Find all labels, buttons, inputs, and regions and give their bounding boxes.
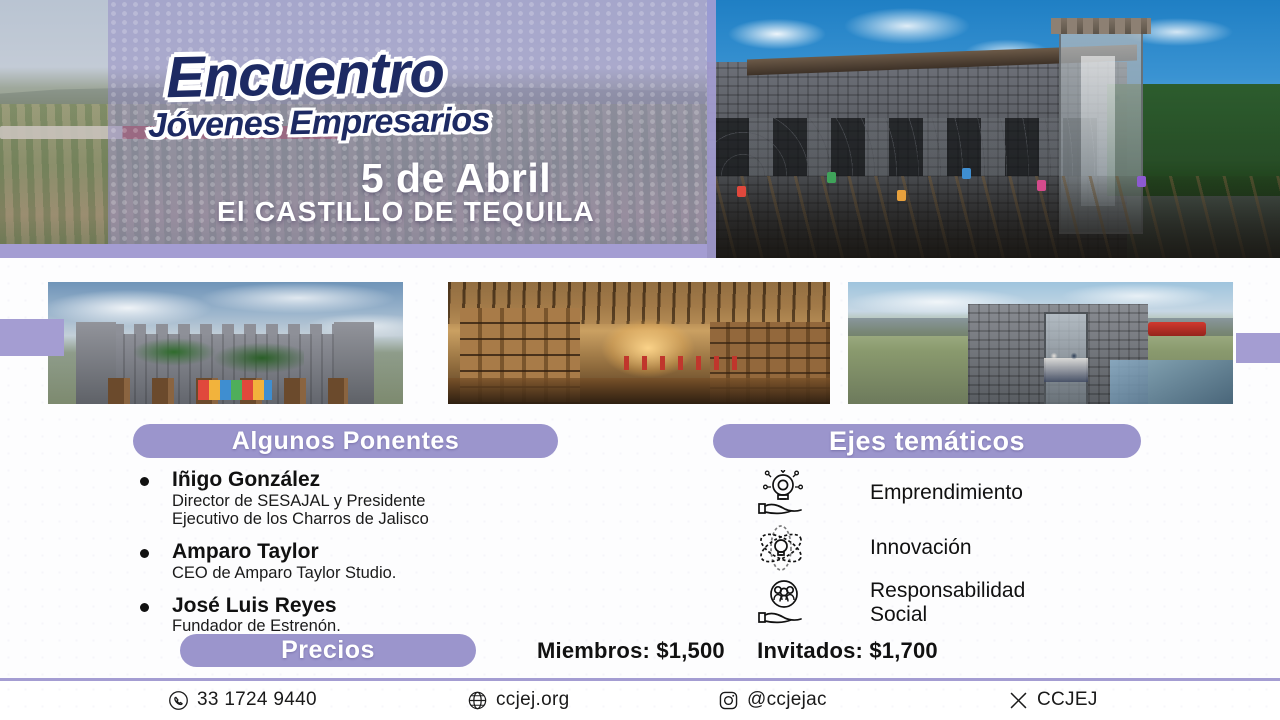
theme-label-line2: Social — [870, 603, 927, 626]
photo-red-vehicle — [1148, 322, 1206, 336]
hero-text-block: Encuentro Jóvenes Empresarios 5 de Abril… — [108, 0, 707, 244]
contact-text: 33 1724 9440 — [197, 689, 317, 711]
themes-list: Emprendimiento Innovación — [745, 468, 1165, 633]
contact-x[interactable]: CCJEJ — [1008, 689, 1098, 711]
price-guests: Invitados: $1,700 — [757, 638, 938, 663]
contact-text: CCJEJ — [1037, 689, 1098, 711]
hero-lanterns — [707, 150, 1280, 230]
speaker-name: Amparo Taylor — [172, 540, 596, 564]
atom-lightbulb-icon — [745, 523, 817, 573]
globe-icon — [467, 690, 488, 711]
theme-item: Innovación — [745, 523, 1165, 573]
theme-label: Responsabilidad Social — [870, 579, 1025, 627]
speaker-name: Iñigo González — [172, 468, 596, 492]
event-title-sub: Jóvenes Empresarios — [148, 99, 689, 142]
photo-glass-walkway — [1110, 360, 1233, 404]
photo-vines — [134, 334, 304, 382]
hand-holding-people-icon — [745, 578, 817, 628]
gallery-photo-barrel-cellar — [448, 282, 830, 404]
speaker-item: Amparo Taylor CEO de Amparo Taylor Studi… — [126, 540, 596, 582]
instagram-icon — [718, 690, 739, 711]
speakers-heading-pill: Algunos Ponentes — [133, 424, 558, 458]
hero-divider-strip — [707, 0, 716, 258]
price-members: Miembros: $1,500 — [537, 638, 725, 663]
photo-visitors — [1044, 348, 1088, 382]
hero-right-photo — [707, 0, 1280, 258]
prices-values: Miembros: $1,500 Invitados: $1,700 — [537, 638, 964, 664]
speaker-item: Iñigo González Director de SESAJAL y Pre… — [126, 468, 596, 529]
speaker-role-line1: CEO de Amparo Taylor Studio. — [172, 564, 596, 583]
contact-text: @ccjejac — [747, 689, 827, 711]
bullet-icon — [140, 603, 149, 612]
contact-text: ccjej.org — [496, 689, 569, 711]
gallery-photo-castle-exterior — [48, 282, 403, 404]
hand-holding-lightbulb-gear-icon — [745, 468, 817, 518]
event-date: 5 de Abril — [236, 155, 676, 202]
x-twitter-icon — [1008, 690, 1029, 711]
contact-instagram[interactable]: @ccjejac — [718, 689, 827, 711]
photo-table-flowers — [624, 356, 744, 370]
hero-banner: Encuentro Jóvenes Empresarios 5 de Abril… — [0, 0, 1280, 258]
speaker-item: José Luis Reyes Fundador de Estrenón. — [126, 594, 596, 636]
theme-item: Emprendimiento — [745, 468, 1165, 518]
bullet-icon — [140, 477, 149, 486]
speakers-list: Iñigo González Director de SESAJAL y Pre… — [126, 468, 596, 647]
photo-cellar-floor — [448, 378, 830, 404]
event-poster: Encuentro Jóvenes Empresarios 5 de Abril… — [0, 0, 1280, 720]
photo-colored-letters — [198, 380, 272, 400]
theme-label-line1: Responsabilidad — [870, 579, 1025, 602]
theme-item: Responsabilidad Social — [745, 578, 1165, 628]
event-title-main: Encuentro — [165, 39, 666, 107]
event-venue: El CASTILLO DE TEQUILA — [126, 196, 686, 228]
bullet-icon — [140, 549, 149, 558]
photo-gallery — [0, 282, 1280, 404]
theme-label: Emprendimiento — [870, 481, 1023, 505]
contact-website[interactable]: ccjej.org — [467, 689, 569, 711]
accent-bar-right — [1236, 333, 1280, 363]
gallery-photo-castle-terrace — [848, 282, 1233, 404]
speaker-name: José Luis Reyes — [172, 594, 596, 618]
speaker-role-line1: Director de SESAJAL y Presidente — [172, 492, 596, 511]
hero-bottom-band — [0, 244, 707, 258]
speaker-role-line2: Ejecutivo de los Charros de Jalisco — [172, 510, 596, 529]
footer-contact-bar: 33 1724 9440 ccjej.org @ccjejac — [0, 681, 1280, 720]
prices-heading-pill: Precios — [180, 634, 476, 667]
accent-bar-left — [0, 319, 64, 356]
photo-chandelier-glow — [588, 310, 708, 386]
theme-label: Innovación — [870, 536, 972, 560]
themes-heading-pill: Ejes temáticos — [713, 424, 1141, 458]
whatsapp-icon — [168, 690, 189, 711]
contact-whatsapp[interactable]: 33 1724 9440 — [168, 689, 317, 711]
